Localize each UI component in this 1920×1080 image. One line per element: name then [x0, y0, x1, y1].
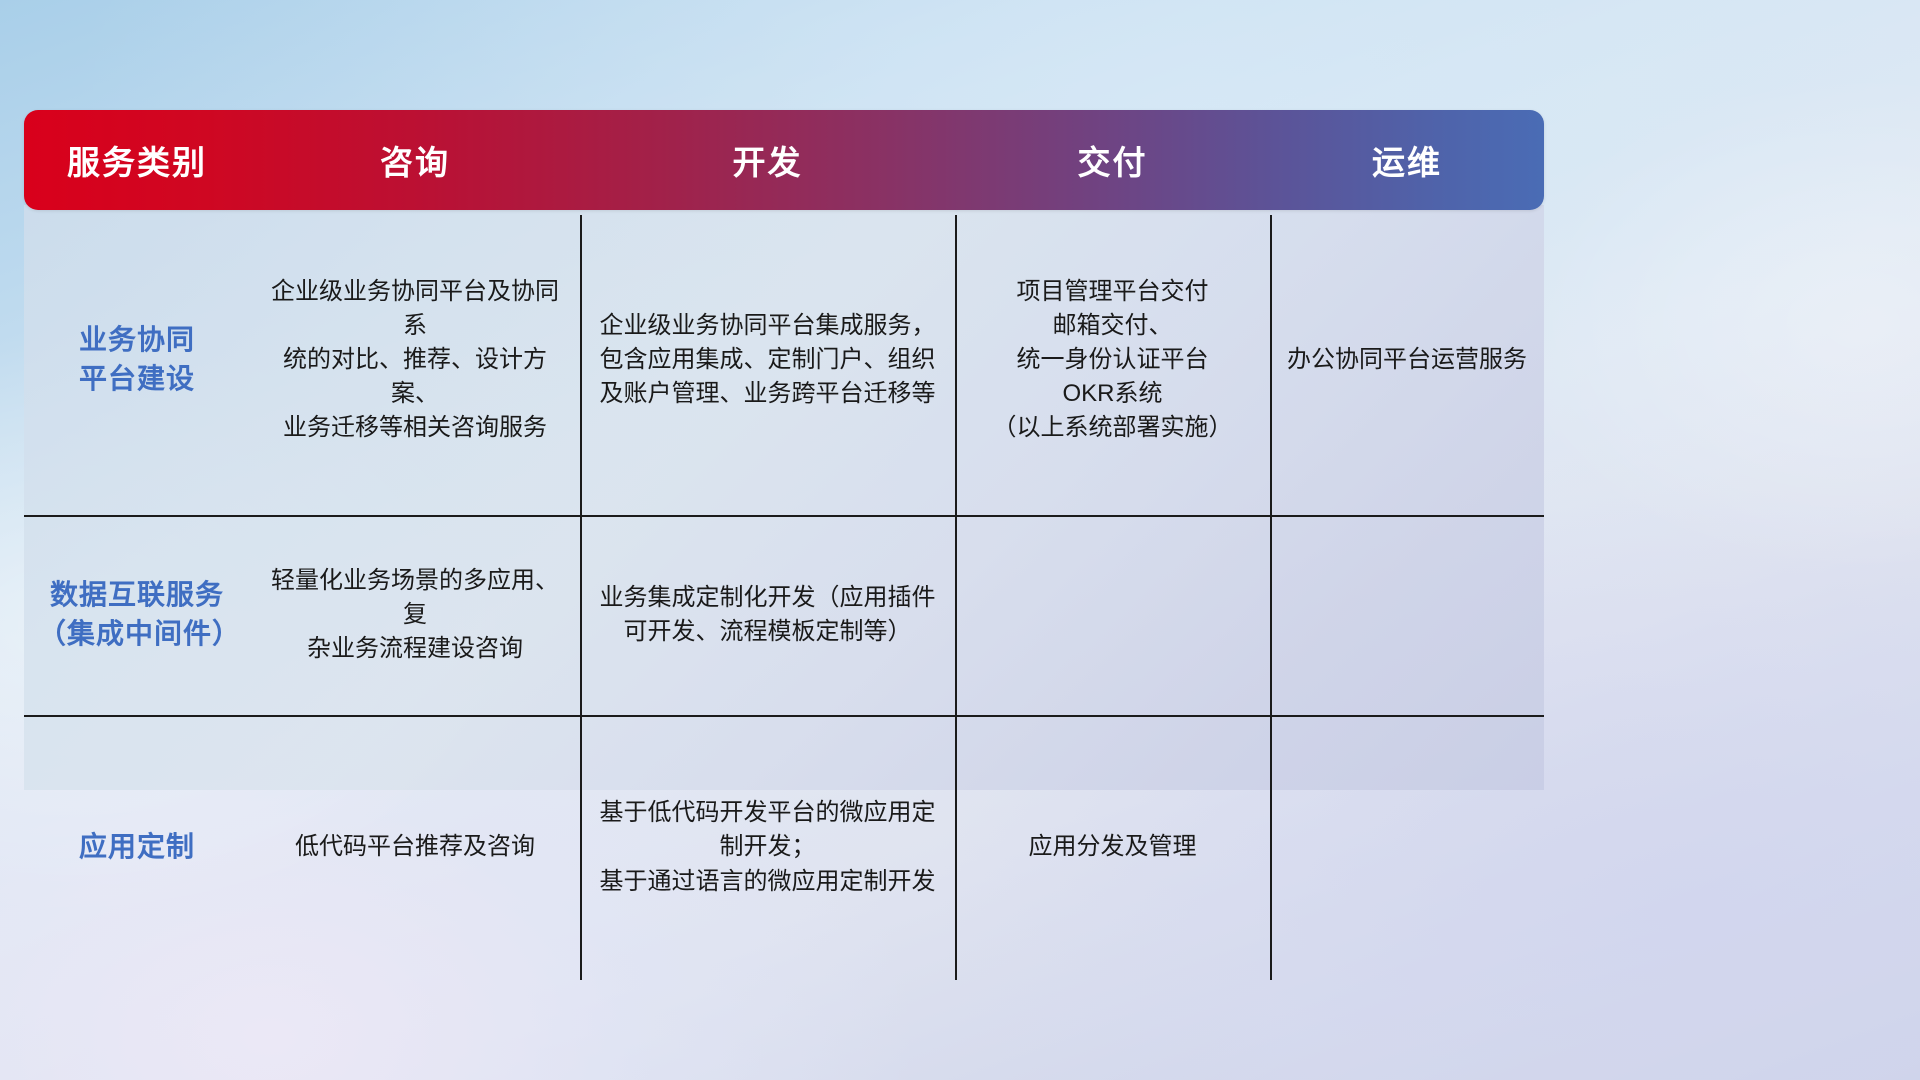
column-header-development: 开发	[580, 136, 955, 184]
cell-category-1: 业务协同 平台建设	[24, 205, 250, 515]
cell-consulting-3: 低代码平台推荐及咨询	[250, 715, 580, 980]
column-divider-2	[955, 215, 957, 980]
column-header-operations: 运维	[1270, 136, 1544, 184]
row-divider-1	[24, 515, 1544, 517]
cell-operations-2	[1270, 515, 1544, 715]
row-divider-2	[24, 715, 1544, 717]
service-matrix-table: 服务类别 咨询 开发 交付 运维 业务协同 平台建设 企业级业务协同平台及协同系…	[24, 110, 1544, 790]
cell-category-2: 数据互联服务 （集成中间件）	[24, 515, 250, 715]
cell-development-2: 业务集成定制化开发（应用插件 可开发、流程模板定制等）	[580, 515, 955, 715]
column-header-consulting: 咨询	[250, 136, 580, 184]
cell-consulting-1: 企业级业务协同平台及协同系 统的对比、推荐、设计方案、 业务迁移等相关咨询服务	[250, 205, 580, 515]
table-row: 业务协同 平台建设 企业级业务协同平台及协同系 统的对比、推荐、设计方案、 业务…	[24, 205, 1544, 515]
cell-consulting-2: 轻量化业务场景的多应用、复 杂业务流程建设咨询	[250, 515, 580, 715]
cell-operations-1: 办公协同平台运营服务	[1270, 205, 1544, 515]
table-row: 应用定制 低代码平台推荐及咨询 基于低代码开发平台的微应用定 制开发； 基于通过…	[24, 715, 1544, 980]
column-header-delivery: 交付	[955, 136, 1270, 184]
cell-category-3: 应用定制	[24, 715, 250, 980]
table-row: 数据互联服务 （集成中间件） 轻量化业务场景的多应用、复 杂业务流程建设咨询 业…	[24, 515, 1544, 715]
column-divider-3	[1270, 215, 1272, 980]
cell-operations-3	[1270, 715, 1544, 980]
cell-development-1: 企业级业务协同平台集成服务， 包含应用集成、定制门户、组织 及账户管理、业务跨平…	[580, 205, 955, 515]
cell-delivery-2	[955, 515, 1270, 715]
table-header-row: 服务类别 咨询 开发 交付 运维	[24, 110, 1544, 210]
column-header-category: 服务类别	[24, 136, 250, 184]
cell-delivery-1: 项目管理平台交付 邮箱交付、 统一身份认证平台 OKR系统 （以上系统部署实施）	[955, 205, 1270, 515]
column-divider-1	[580, 215, 582, 980]
cell-development-3: 基于低代码开发平台的微应用定 制开发； 基于通过语言的微应用定制开发	[580, 715, 955, 980]
cell-delivery-3: 应用分发及管理	[955, 715, 1270, 980]
table-body: 业务协同 平台建设 企业级业务协同平台及协同系 统的对比、推荐、设计方案、 业务…	[24, 205, 1544, 790]
